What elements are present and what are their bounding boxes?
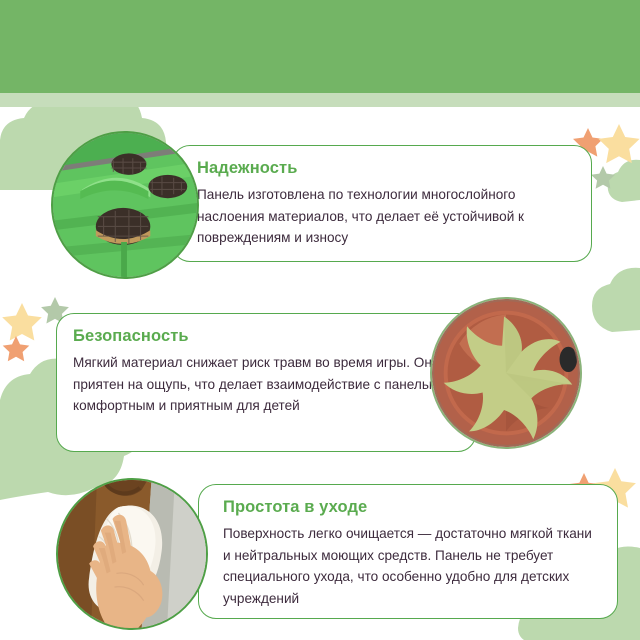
card-title-easy-care: Простота в уходе xyxy=(223,498,597,517)
star-cream-left xyxy=(2,303,42,341)
infographic-page: Развивающая настенно-напольная панель мо… xyxy=(0,0,640,640)
palm-leaf-panel-photo xyxy=(430,297,582,449)
feature-card-easy-care: Простота в уходе Поверхность легко очища… xyxy=(198,484,618,619)
star-sage-top xyxy=(591,166,615,189)
card-body-easy-care: Поверхность легко очищается — достаточно… xyxy=(223,523,597,609)
feature-card-reliability: Надежность Панель изготовлена по техноло… xyxy=(172,145,592,262)
card-body-safety: Мягкий материал снижает риск травм во вр… xyxy=(73,352,455,417)
card-body-reliability: Панель изготовлена по технологии многосл… xyxy=(197,184,571,249)
page-header xyxy=(0,0,640,93)
card-title-reliability: Надежность xyxy=(197,159,571,178)
hand-wiping-cloth-photo xyxy=(56,478,208,630)
star-orange-left xyxy=(3,336,30,361)
star-cream-top xyxy=(598,124,639,163)
green-foam-panel-photo xyxy=(51,131,199,279)
card-title-safety: Безопасность xyxy=(73,327,455,346)
header-accent-strip xyxy=(0,93,640,107)
feature-card-safety: Безопасность Мягкий материал снижает рис… xyxy=(56,313,476,452)
